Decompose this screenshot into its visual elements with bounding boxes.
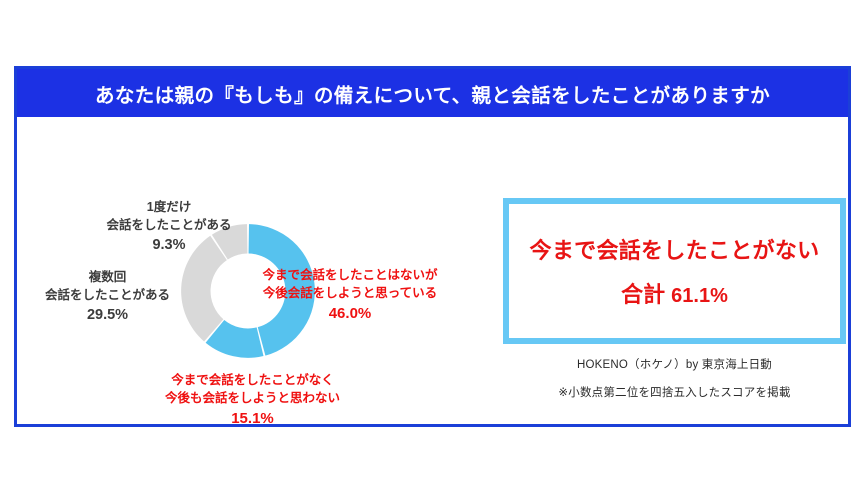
infographic-poster: あなたは親の『もしも』の備えについて、親と会話をしたことがありますか 1度だけ … bbox=[14, 66, 851, 427]
label-once-line2: 会話をしたことがある bbox=[74, 217, 264, 235]
label-multiple-line1: 複数回 bbox=[20, 269, 195, 287]
summary-callout-box: 今まで会話をしたことがない 合計61.1% bbox=[503, 198, 846, 344]
rounding-note: ※小数点第二位を四捨五入したスコアを掲載 bbox=[503, 384, 846, 400]
label-will-talk-percent: 46.0% bbox=[245, 303, 455, 324]
credit-text: HOKENO（ホケノ）by 東京海上日動 bbox=[503, 356, 846, 372]
label-will-talk: 今まで会話をしたことはないが 今後会話をしようと思っている 46.0% bbox=[245, 267, 455, 324]
label-never-talk-percent: 15.1% bbox=[125, 408, 380, 429]
summary-total: 合計61.1% bbox=[621, 277, 728, 309]
label-multiple-line2: 会話をしたことがある bbox=[20, 287, 195, 305]
title-bar: あなたは親の『もしも』の備えについて、親と会話をしたことがありますか bbox=[17, 69, 848, 117]
poster-body: 1度だけ 会話をしたことがある 9.3% 複数回 会話をしたことがある 29.5… bbox=[17, 117, 848, 424]
summary-headline: 今まで会話をしたことがない bbox=[530, 233, 820, 265]
footer-block: HOKENO（ホケノ）by 東京海上日動 ※小数点第二位を四捨五入したスコアを掲… bbox=[503, 356, 846, 400]
summary-total-percent: 61.1% bbox=[671, 285, 728, 307]
label-multiple-conversations: 複数回 会話をしたことがある 29.5% bbox=[20, 269, 195, 325]
label-will-talk-line1: 今まで会話をしたことはないが bbox=[245, 267, 455, 285]
label-never-talk-line1: 今まで会話をしたことがなく bbox=[125, 372, 380, 390]
label-once-line1: 1度だけ bbox=[74, 199, 264, 217]
donut-chart-region: 1度だけ 会話をしたことがある 9.3% 複数回 会話をしたことがある 29.5… bbox=[17, 117, 487, 424]
label-will-talk-line2: 今後会話をしようと思っている bbox=[245, 285, 455, 303]
label-once-conversation: 1度だけ 会話をしたことがある 9.3% bbox=[74, 199, 264, 255]
label-once-percent: 9.3% bbox=[74, 235, 264, 256]
label-never-talk-line2: 今後も会話をしようと思わない bbox=[125, 390, 380, 408]
summary-total-label: 合計 bbox=[621, 282, 665, 307]
label-multiple-percent: 29.5% bbox=[20, 305, 195, 326]
page-title: あなたは親の『もしも』の備えについて、親と会話をしたことがありますか bbox=[95, 79, 770, 108]
label-never-talk: 今まで会話をしたことがなく 今後も会話をしようと思わない 15.1% bbox=[125, 372, 380, 429]
